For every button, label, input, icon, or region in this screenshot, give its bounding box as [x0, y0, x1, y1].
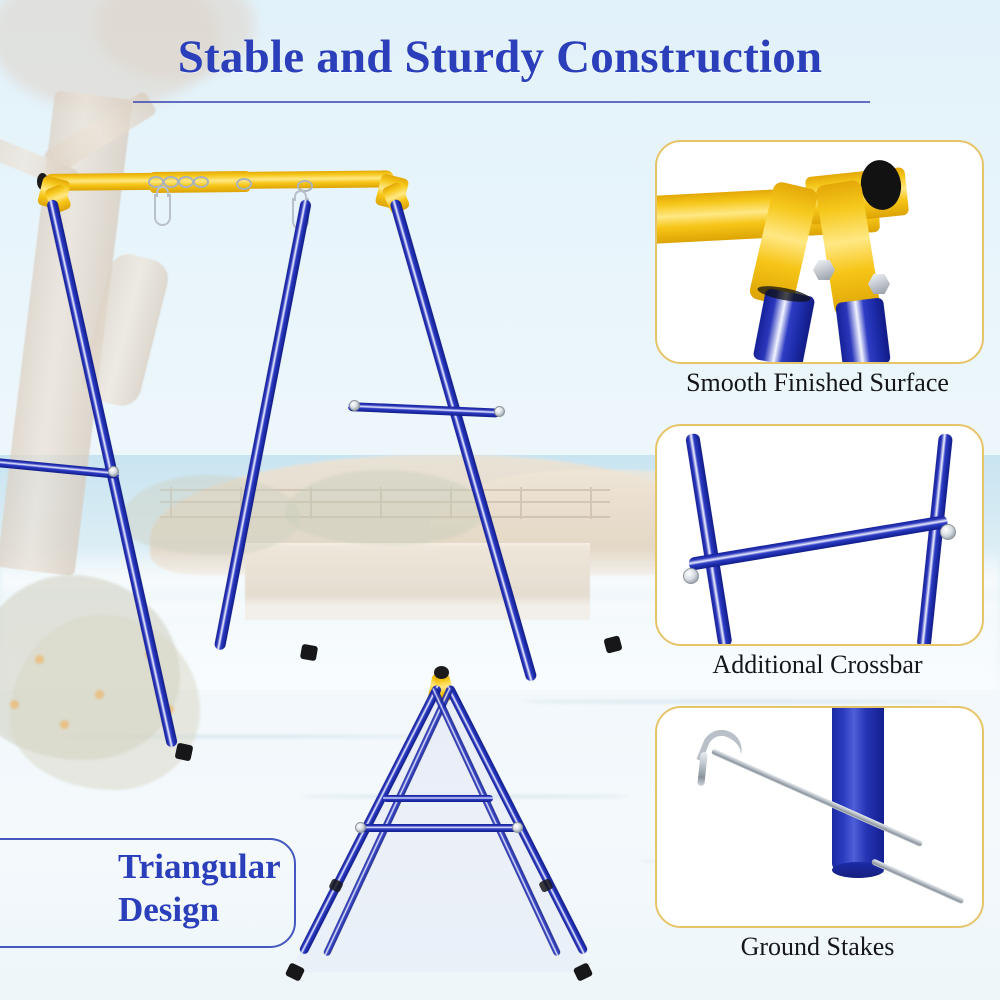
blue-pole	[832, 706, 884, 872]
hanger-ring-icon	[178, 176, 194, 188]
crossbar-bolt-icon	[940, 524, 956, 540]
crossbar-bolt-icon	[349, 400, 360, 411]
leg-foot-cap	[175, 743, 194, 762]
panel-caption-ground-stakes: Ground Stakes	[655, 932, 980, 962]
hanger-ring-icon	[236, 178, 252, 190]
crossbar-bolt-icon	[683, 568, 699, 584]
crossbar-right	[348, 402, 500, 418]
crossbar-left	[0, 456, 120, 479]
triangular-design-label-line2: Design	[118, 889, 348, 932]
diagonal-crossbar	[688, 515, 949, 571]
infographic-page: Stable and Sturdy Construction	[0, 0, 1000, 1000]
triangle-crossbar-bolt-icon	[355, 822, 366, 833]
panel-3-photo	[657, 708, 982, 926]
panel-2-photo	[657, 426, 982, 644]
panel-caption-smooth-finished-surface: Smooth Finished Surface	[655, 368, 980, 398]
panel-1-photo	[657, 142, 982, 362]
leg-foot-cap	[603, 635, 622, 654]
leg-front-right	[214, 199, 312, 651]
crossbar-bolt-icon	[494, 406, 505, 417]
blue-leg-insert-right	[835, 297, 891, 364]
ground-stake-tip	[871, 858, 965, 904]
triangle-crossbar-bolt-icon	[512, 822, 523, 833]
panel-additional-crossbar	[655, 424, 984, 646]
panel-caption-additional-crossbar: Additional Crossbar	[655, 650, 980, 680]
left-leg-pipe	[685, 433, 732, 646]
hanger-ring-icon	[193, 176, 209, 188]
crossbar-bolt-icon	[108, 466, 119, 477]
swing-hook-icon	[154, 194, 171, 226]
triangle-apex-cap-icon	[434, 666, 449, 679]
panel-smooth-finished-surface	[655, 140, 984, 364]
triangular-design-label: Triangular Design	[118, 846, 348, 931]
leg-rear-right	[389, 198, 537, 682]
leg-foot-cap	[300, 644, 318, 662]
ground-stake-shaft	[711, 748, 924, 847]
panel-ground-stakes	[655, 706, 984, 928]
triangular-design-label-line1: Triangular	[118, 846, 348, 889]
triangle-crossbar-upper	[383, 795, 493, 802]
triangle-crossbar-lower	[357, 824, 519, 832]
